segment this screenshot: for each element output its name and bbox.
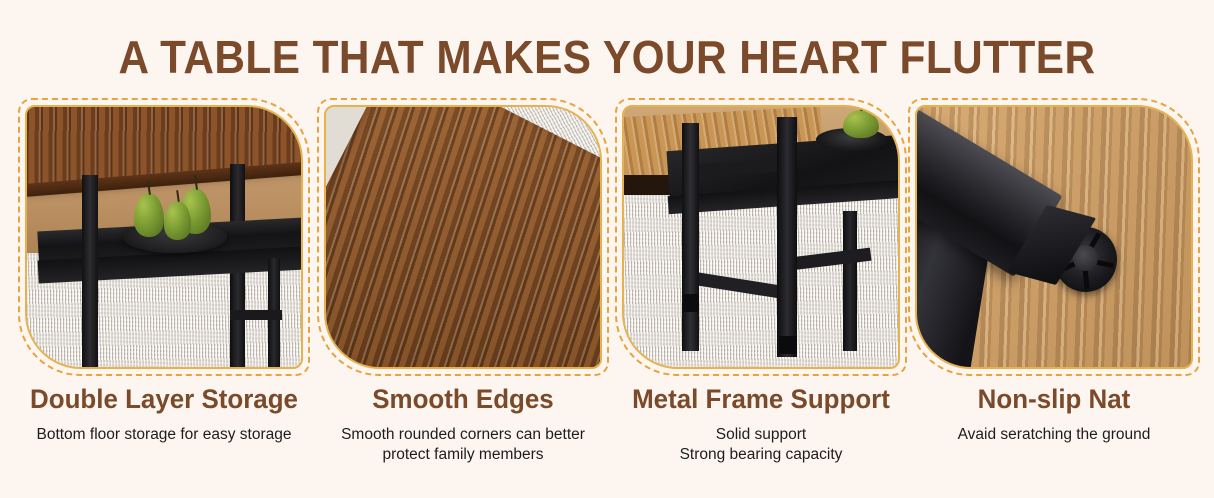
feature-caption: Smooth Edges Smooth rounded corners can … [317, 384, 609, 465]
product-photo-metal-frame-support [624, 107, 898, 367]
table-foot [683, 294, 699, 312]
page-title: A TABLE THAT MAKES YOUR HEART FLUTTER [49, 32, 1166, 83]
feature-title: Metal Frame Support [621, 384, 901, 415]
photo-inner-non-slip-nat [915, 105, 1193, 369]
feature-card-non-slip-nat: Non-slip Nat Avaid seratching the ground [908, 98, 1200, 490]
product-photo-double-layer-storage [27, 107, 301, 367]
photo-frame-metal-frame-support [615, 98, 907, 376]
feature-description: Smooth rounded corners can better protec… [317, 425, 609, 465]
product-photo-smooth-edges [326, 107, 600, 367]
feature-description: Bottom floor storage for easy storage [18, 425, 310, 445]
photo-inner-double-layer-storage [25, 105, 303, 369]
feature-caption: Double Layer Storage Bottom floor storag… [18, 384, 310, 445]
feature-card-double-layer-storage: Double Layer Storage Bottom floor storag… [18, 98, 310, 490]
photo-frame-double-layer-storage [18, 98, 310, 376]
photo-frame-non-slip-nat [908, 98, 1200, 376]
feature-title: Double Layer Storage [24, 384, 304, 415]
table-leg-left [682, 123, 700, 352]
feature-title: Non-slip Nat [914, 384, 1194, 415]
photo-frame-smooth-edges [317, 98, 609, 376]
pear-icon [134, 193, 164, 237]
pear-icon [843, 110, 879, 139]
photo-inner-smooth-edges [324, 105, 602, 369]
feature-title: Smooth Edges [323, 384, 603, 415]
table-leg-right [777, 117, 796, 356]
feature-caption: Metal Frame Support Solid support Strong… [615, 384, 907, 465]
feature-card-smooth-edges: Smooth Edges Smooth rounded corners can … [317, 98, 609, 490]
table-cross-rail [230, 310, 282, 320]
photo-inner-metal-frame-support [622, 105, 900, 369]
table-leg-left [82, 175, 98, 367]
table-leg-back [843, 211, 857, 351]
feature-description: Avaid seratching the ground [908, 425, 1200, 445]
table-foot [779, 336, 797, 354]
table-corner-surface [326, 107, 600, 367]
feature-caption: Non-slip Nat Avaid seratching the ground [908, 384, 1200, 445]
feature-description: Solid support Strong bearing capacity [615, 425, 907, 465]
feature-card-metal-frame-support: Metal Frame Support Solid support Strong… [615, 98, 907, 490]
product-photo-non-slip-nat [917, 107, 1191, 367]
feature-card-grid: Double Layer Storage Bottom floor storag… [0, 98, 1214, 490]
